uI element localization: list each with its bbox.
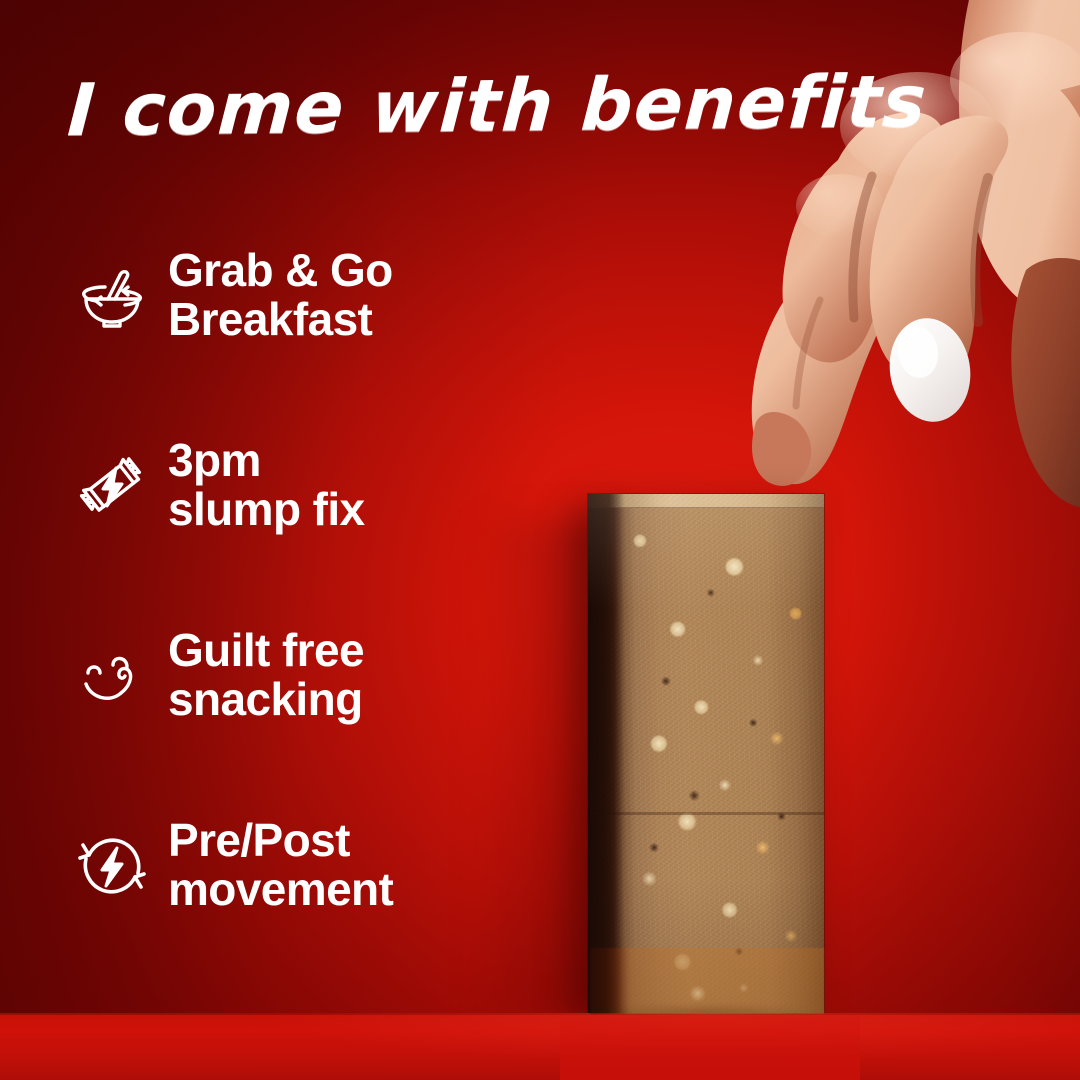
bar-top-light: [588, 494, 824, 1014]
snack-bar-lightning-icon: [70, 444, 154, 528]
benefit-label: Grab & Go Breakfast: [168, 246, 393, 344]
benefit-label: Pre/Post movement: [168, 816, 393, 914]
bar-reflection-inner: [590, 948, 824, 1014]
benefit-item-guilt-free: Guilt free snacking: [70, 628, 540, 818]
protein-bar: [588, 494, 824, 1014]
social-ad-canvas: I come with benefits: [0, 0, 1080, 1080]
benefit-label: 3pm slump fix: [168, 436, 365, 534]
table-surface-sheen: [0, 1013, 1080, 1080]
licking-lips-face-icon: [70, 634, 154, 718]
bowl-with-chopsticks-swirl-icon: [70, 254, 154, 338]
benefit-label: Guilt free snacking: [168, 626, 364, 724]
bar-reflection: [590, 948, 824, 1014]
refresh-lightning-icon: [70, 824, 154, 908]
pinky-finger: [1011, 258, 1080, 508]
benefits-list: Grab & Go Breakfast 3pm: [70, 248, 540, 1008]
benefit-item-slump-fix: 3pm slump fix: [70, 438, 540, 628]
page-title: I come with benefits: [66, 66, 831, 146]
benefit-item-grab-and-go: Grab & Go Breakfast: [70, 248, 540, 438]
benefit-item-pre-post-movement: Pre/Post movement: [70, 818, 540, 1008]
